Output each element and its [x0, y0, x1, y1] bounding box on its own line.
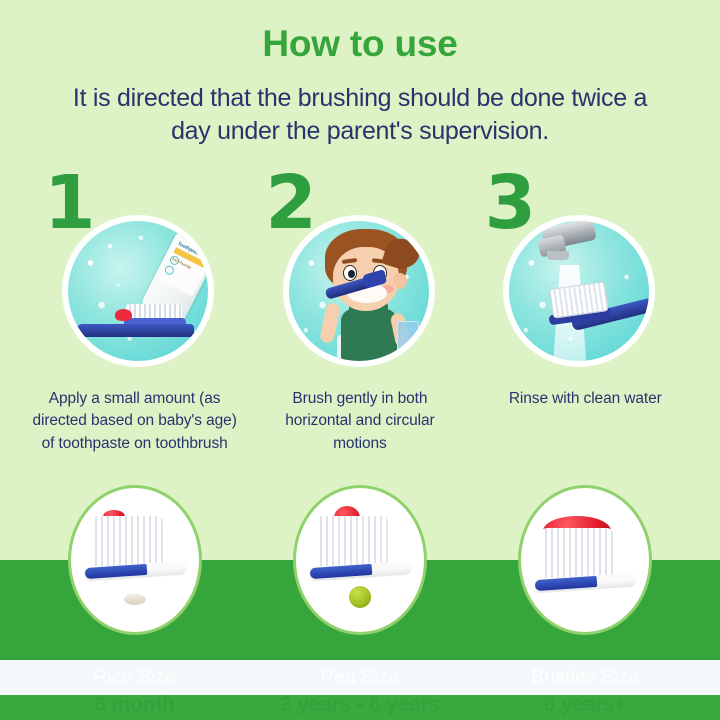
header: How to use It is directed that the brush…	[0, 0, 720, 148]
step-3-caption: Rinse with clean water	[473, 388, 698, 455]
step-1-caption: Apply a small amount (as directed based …	[22, 388, 247, 455]
faucet-icon	[537, 221, 599, 269]
rice-grain-icon	[124, 594, 146, 605]
page-title: How to use	[0, 24, 720, 65]
pea-size-image	[293, 485, 427, 635]
size-age-rice: 6 month	[95, 693, 175, 717]
step-number-3: 3	[485, 173, 537, 234]
size-label-pea: Pea Size	[321, 647, 400, 689]
size-label-rice: Rice Size	[93, 647, 176, 689]
size-column-pea: Pea Size 2 years - 6 years	[247, 485, 472, 717]
how-to-use-infographic: How to use It is directed that the brush…	[0, 0, 720, 720]
toothbrush-icon	[537, 285, 649, 327]
step-number-1: 1	[44, 173, 96, 234]
toothbrush-icon	[76, 307, 198, 337]
size-label-bristles: Bristles Size	[531, 647, 640, 689]
paste-drop-icon	[115, 309, 132, 321]
size-column-bristles: Bristles Size 6 years+	[473, 485, 698, 717]
step-number-2: 2	[265, 173, 317, 234]
size-column-rice: Rice Size 6 month	[22, 485, 247, 717]
green-pea-icon	[349, 586, 371, 608]
size-age-pea: 2 years - 6 years	[280, 693, 440, 717]
rice-size-image	[68, 485, 202, 635]
size-age-bristles: 6 years+	[544, 693, 627, 717]
step-captions-row: Apply a small amount (as directed based …	[0, 388, 720, 455]
step-2-caption: Brush gently in both horizontal and circ…	[247, 388, 472, 455]
bristles-size-image	[518, 485, 652, 635]
page-subtitle: It is directed that the brushing should …	[0, 82, 720, 148]
size-guide-row: Rice Size 6 month Pea Size 2 years - 6 y…	[0, 485, 720, 717]
